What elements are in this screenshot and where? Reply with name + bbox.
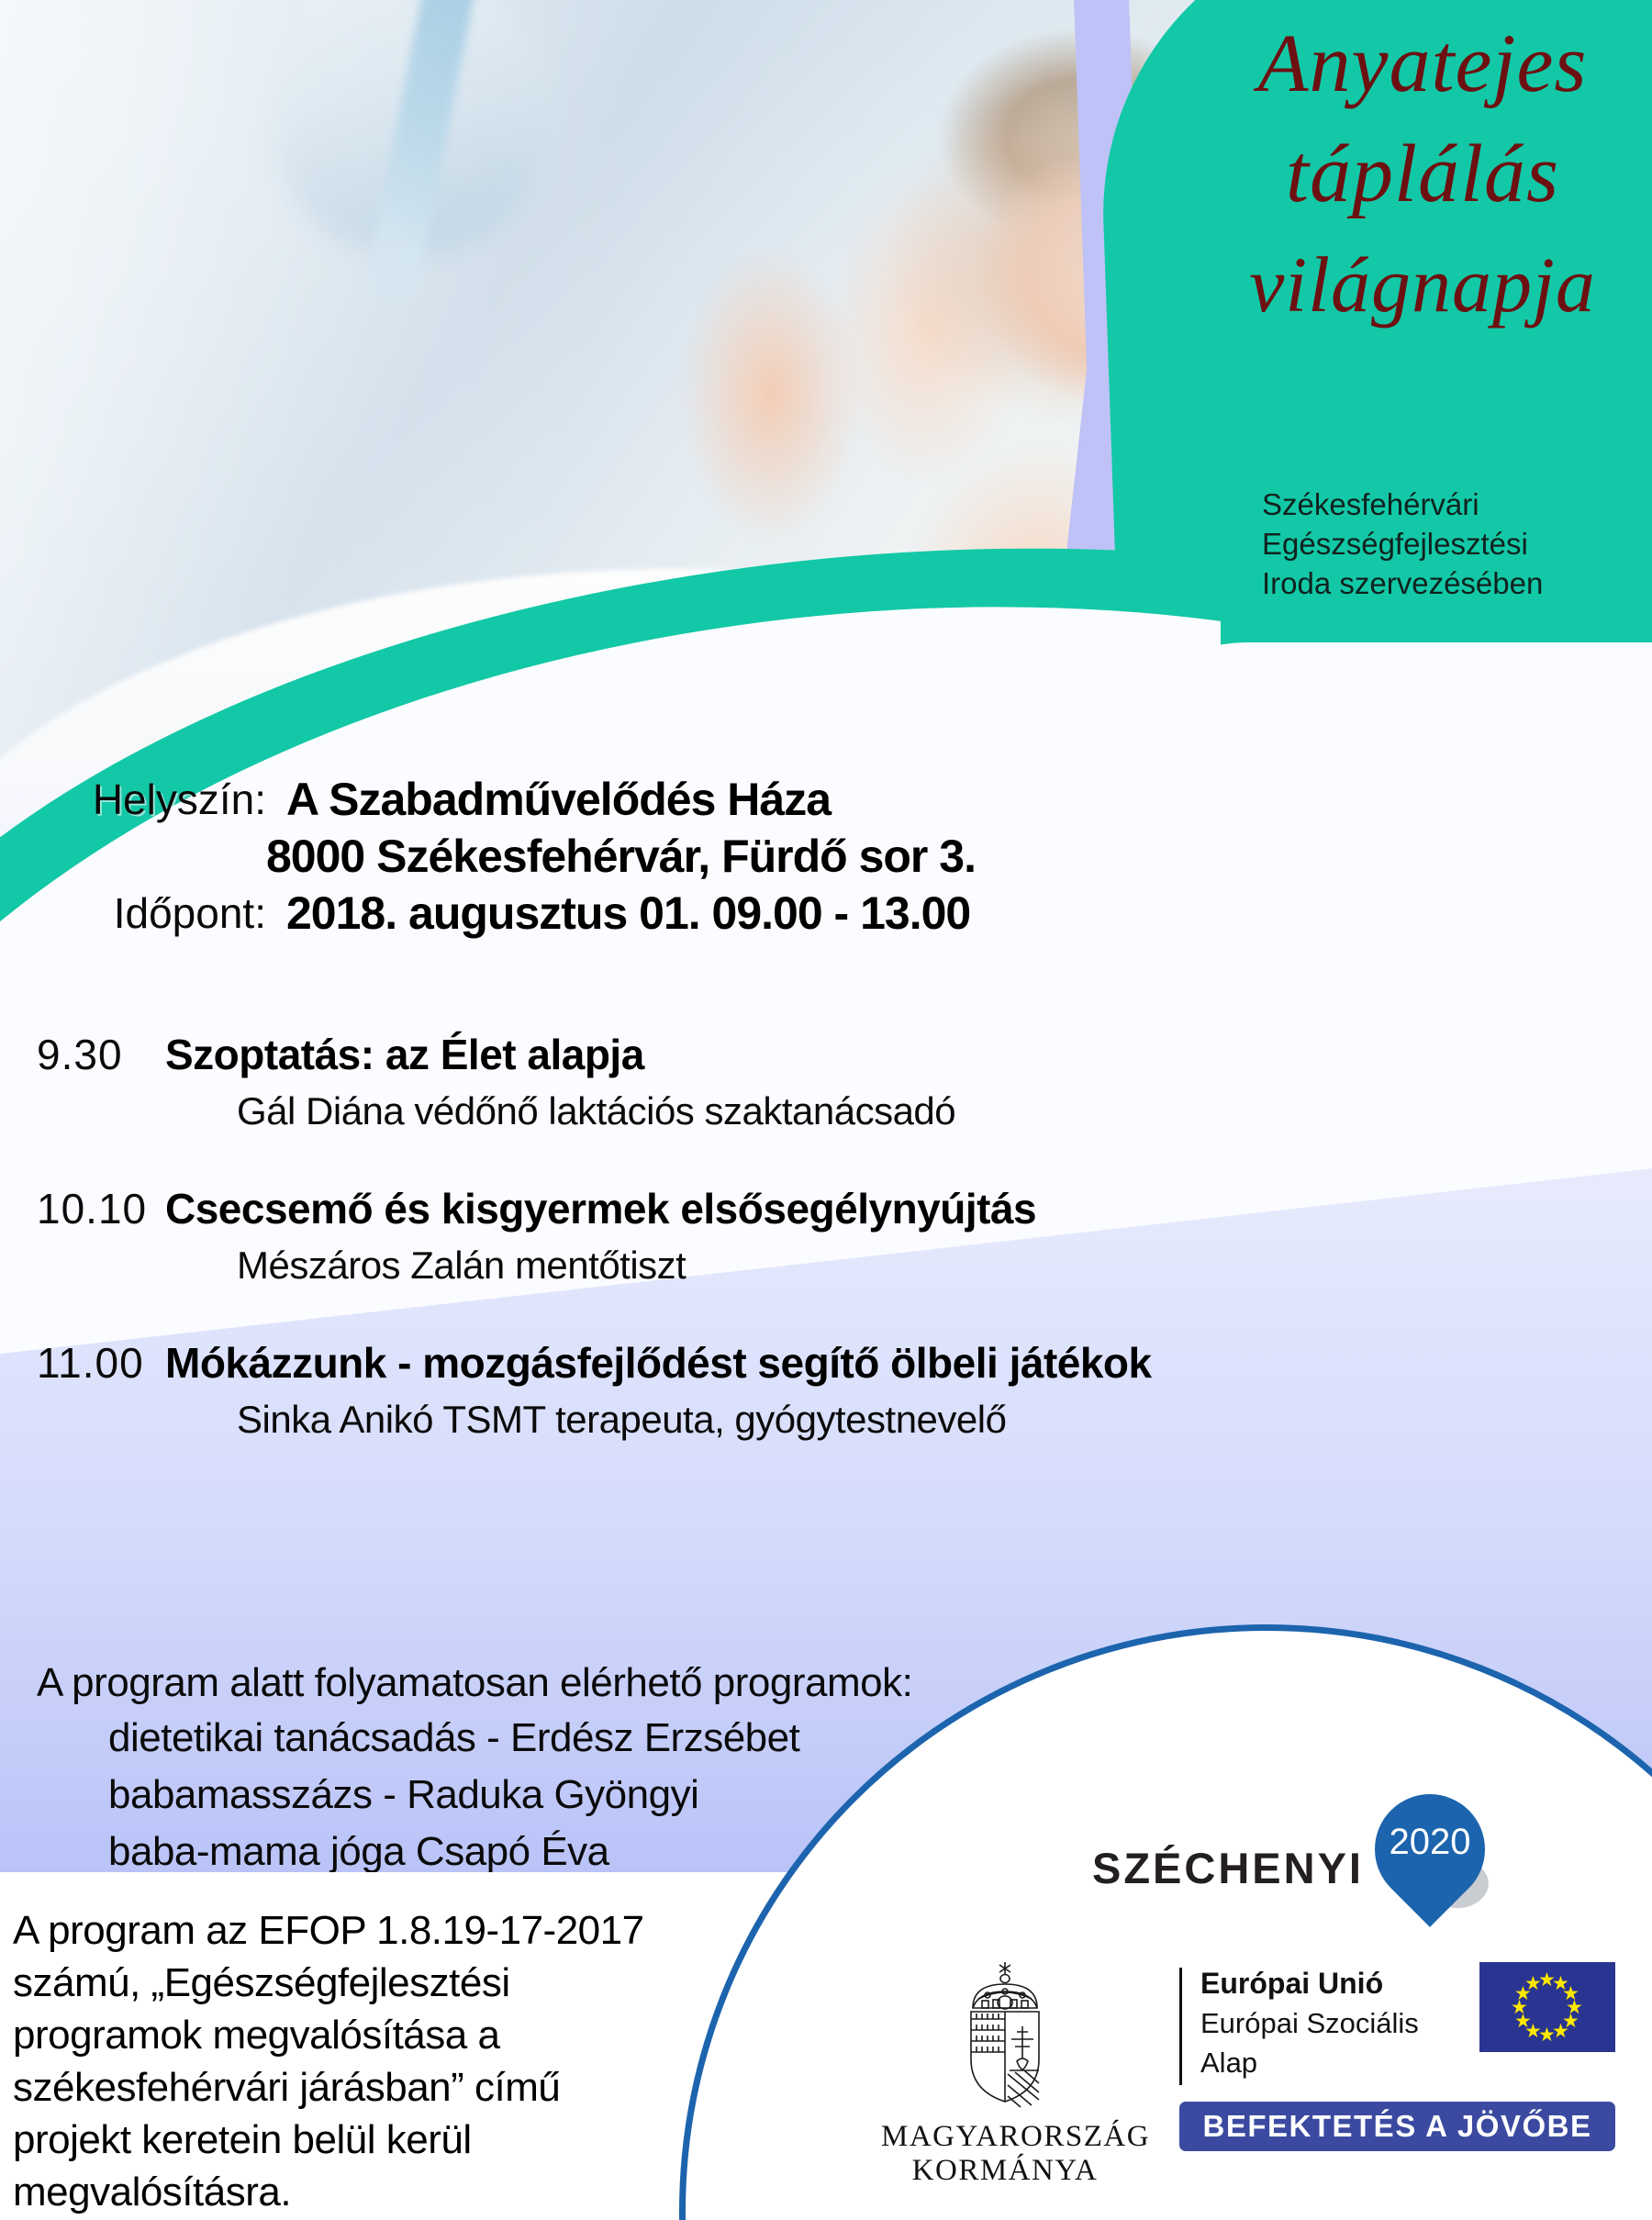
program-list: 9.30 Szoptatás: az Élet alapja Gál Diána…: [0, 1028, 1652, 1490]
subtitle-line-2: Egészségfejlesztési: [1262, 524, 1647, 563]
venue-time-row: Időpont: 2018. augusztus 01. 09.00 - 13.…: [0, 885, 1652, 942]
program-title: Mókázzunk - mozgásfejlődést segítő ölbel…: [165, 1336, 1152, 1389]
funding-line-2: számú, „Egészségfejlesztési: [13, 1957, 756, 2009]
program-item-head: 10.10 Csecsemő és kisgyermek elsősegélyn…: [0, 1182, 1652, 1235]
title-line-3: világnapja: [1193, 229, 1652, 340]
eu-divider-bar: [1179, 1968, 1182, 2085]
funding-line-4: székesfehérvári járásban” című: [13, 2061, 756, 2114]
subtitle-line-1: Székesfehérvári: [1262, 485, 1647, 524]
eu-line-2: Európai Szociális: [1200, 2003, 1419, 2043]
program-presenter: Sinka Anikó TSMT terapeuta, gyógytestnev…: [237, 1395, 1652, 1445]
european-union-logo-text: Európai Unió Európai Szociális Alap: [1179, 1964, 1419, 2085]
funding-line-1: A program az EFOP 1.8.19-17-2017: [13, 1904, 756, 1957]
eu-flag-icon: ★★★★★★★★★★★★: [1479, 1962, 1615, 2052]
funding-disclaimer: A program az EFOP 1.8.19-17-2017 számú, …: [13, 1904, 756, 2218]
program-title: Csecsemő és kisgyermek elsősegélynyújtás: [165, 1182, 1036, 1235]
venue-block: Helyszín: A Szabadművelődés Háza 8000 Sz…: [0, 771, 1652, 942]
program-time: 11.00: [0, 1336, 165, 1389]
hungarian-coat-of-arms-icon: [951, 1955, 1059, 2111]
program-item: 9.30 Szoptatás: az Élet alapja Gál Diána…: [0, 1028, 1652, 1136]
gov-logo-line-1: MAGYARORSZÁG: [881, 2120, 1129, 2154]
title-line-1: Anyatejes: [1193, 9, 1652, 119]
program-presenter: Gál Diána védőnő laktációs szaktanácsadó: [237, 1087, 1652, 1136]
eu-star-icon: ★: [1524, 1974, 1542, 1993]
szechenyi-wordmark: SZÉCHENYI: [1092, 1843, 1364, 1893]
szechenyi-2020-logo: SZÉCHENYI 2020: [1092, 1794, 1485, 1941]
venue-time-value: 2018. augusztus 01. 09.00 - 13.00: [286, 885, 970, 942]
venue-time-label: Időpont:: [0, 885, 286, 942]
szechenyi-year: 2020: [1375, 1822, 1485, 1863]
funding-line-5: projekt keretein belül kerül: [13, 2114, 756, 2166]
subtitle-line-3: Iroda szervezésében: [1262, 563, 1647, 603]
funding-line-6: megvalósításra.: [13, 2166, 756, 2218]
befektetes-badge: BEFEKTETÉS A JÖVŐBE: [1179, 2102, 1615, 2151]
eu-text-lines: Európai Unió Európai Szociális Alap: [1200, 1964, 1419, 2082]
program-time: 10.10: [0, 1182, 165, 1235]
program-item-head: 11.00 Mókázzunk - mozgásfejlődést segítő…: [0, 1336, 1652, 1389]
title-line-2: táplálás: [1193, 119, 1652, 229]
poster-root: Anyatejes táplálás világnapja Székesfehé…: [0, 0, 1652, 2220]
venue-address-row: 8000 Székesfehérvár, Fürdő sor 3.: [0, 828, 1652, 885]
program-item: 10.10 Csecsemő és kisgyermek elsősegélyn…: [0, 1182, 1652, 1290]
venue-place-name: A Szabadművelődés Háza: [286, 771, 831, 828]
poster-subtitle: Székesfehérvári Egészségfejlesztési Irod…: [1262, 485, 1647, 603]
venue-address: 8000 Székesfehérvár, Fürdő sor 3.: [266, 828, 976, 885]
hungary-government-logo: MAGYARORSZÁG KORMÁNYA: [881, 1955, 1129, 2188]
eu-line-1: Európai Unió: [1200, 1964, 1419, 2003]
befektetes-label: BEFEKTETÉS A JÖVŐBE: [1203, 2109, 1592, 2144]
program-time: 9.30: [0, 1028, 165, 1081]
program-item-head: 9.30 Szoptatás: az Élet alapja: [0, 1028, 1652, 1081]
eu-line-3: Alap: [1200, 2043, 1419, 2082]
poster-title: Anyatejes táplálás világnapja: [1193, 9, 1652, 340]
venue-place-row: Helyszín: A Szabadművelődés Háza: [0, 771, 1652, 828]
gov-logo-line-2: KORMÁNYA: [881, 2154, 1129, 2188]
program-title: Szoptatás: az Élet alapja: [165, 1028, 644, 1081]
funding-line-3: programok megvalósítása a: [13, 2009, 756, 2061]
program-item: 11.00 Mókázzunk - mozgásfejlődést segítő…: [0, 1336, 1652, 1445]
map-pin-icon: 2020: [1375, 1794, 1485, 1941]
venue-place-label: Helyszín:: [0, 771, 286, 828]
program-presenter: Mészáros Zalán mentőtiszt: [237, 1241, 1652, 1290]
